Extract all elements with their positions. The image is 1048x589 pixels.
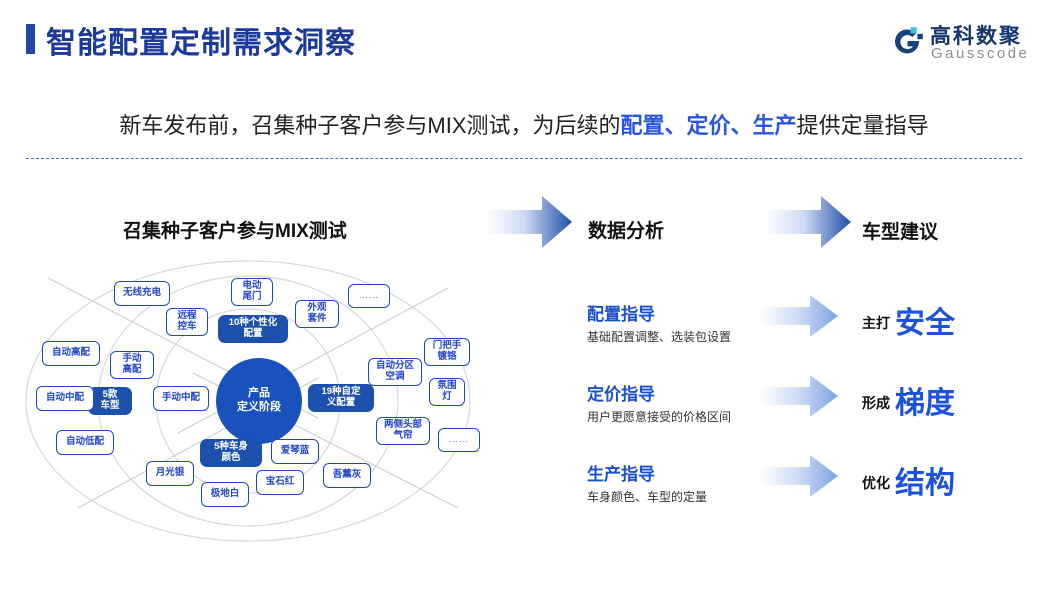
row-arrow-2 xyxy=(760,375,838,417)
mindmap-node-power-tailgate[interactable]: 电动 尾门 xyxy=(231,278,273,306)
slide: 智能配置定制需求洞察 高科数聚 Gausscode 新车发布前，召集种子客户参与… xyxy=(0,0,1048,589)
mindmap-node-color-moonlight-silver[interactable]: 月光银 xyxy=(146,461,194,486)
logo-text-en: Gausscode xyxy=(931,45,1029,62)
row-result-prefix-2: 形成 xyxy=(862,393,890,413)
mindmap-node-side-head-airbag[interactable]: 两侧头部 气帘 xyxy=(376,417,430,445)
row-arrow-3 xyxy=(760,455,838,497)
row-result-prefix-3: 优化 xyxy=(862,473,890,493)
stage-header-2: 数据分析 xyxy=(588,216,664,243)
mindmap-node-door-handle-chrome[interactable]: 门把手 镀铬 xyxy=(424,338,470,366)
mindmap-node-color-aegean-blue[interactable]: 爱琴蓝 xyxy=(271,439,319,464)
subtitle-before: 新车发布前，召集种子客户参与MIX测试，为后续的 xyxy=(119,113,620,138)
row-title-2: 定价指导 xyxy=(587,380,655,405)
mindmap-node-ellipsis-right[interactable]: …… xyxy=(438,428,480,452)
row-result-key-2: 梯度 xyxy=(895,378,955,422)
stage-arrow-1 xyxy=(487,196,572,248)
mindmap-node-auto-low-trim[interactable]: 自动低配 xyxy=(56,430,114,455)
row-result-key-1: 安全 xyxy=(895,298,955,342)
stage-header-3: 车型建议 xyxy=(862,217,938,244)
mindmap-pill-personalized-config[interactable]: 10种个性化 配置 xyxy=(218,315,288,343)
mindmap-node-ellipsis-top[interactable]: …… xyxy=(348,284,390,308)
mindmap-node-appearance-kit[interactable]: 外观 套件 xyxy=(295,300,339,328)
brand-logo: 高科数聚 Gausscode xyxy=(890,20,1030,68)
row-result-prefix-1: 主打 xyxy=(862,313,890,333)
mindmap-node-manual-high-trim[interactable]: 手动 高配 xyxy=(110,351,154,379)
row-sub-1: 基础配置调整、选装包设置 xyxy=(587,328,731,345)
subtitle-after: 提供定量指导 xyxy=(797,113,929,138)
row-sub-2: 用户更愿意接受的价格区间 xyxy=(587,408,731,425)
row-result-key-3: 结构 xyxy=(895,458,955,502)
section-divider xyxy=(26,158,1022,159)
mindmap-node-manual-mid-trim[interactable]: 手动中配 xyxy=(153,386,209,411)
mindmap-node-ambient-light[interactable]: 氛围 灯 xyxy=(429,378,465,406)
slide-header: 智能配置定制需求洞察 高科数聚 Gausscode xyxy=(0,0,1048,78)
mindmap-node-auto-mid-trim[interactable]: 自动中配 xyxy=(36,386,94,411)
stage-arrow-2 xyxy=(766,196,851,248)
row-title-1: 配置指导 xyxy=(587,300,655,325)
mindmap-node-remote-control[interactable]: 远程 控车 xyxy=(166,308,208,336)
stage-header-1: 召集种子客户参与MIX测试 xyxy=(123,216,347,243)
mindmap-node-color-ruby-red[interactable]: 宝石红 xyxy=(256,470,304,495)
mindmap: 产品 定义阶段 10种个性化 配置 19种自定 义配置 5款 车型 5种车身 颜… xyxy=(18,258,518,543)
page-title: 智能配置定制需求洞察 xyxy=(46,18,356,62)
mindmap-pill-custom-config[interactable]: 19种自定 义配置 xyxy=(308,384,374,412)
title-accent-bar xyxy=(26,24,35,54)
mindmap-node-auto-high-trim[interactable]: 自动高配 xyxy=(42,341,100,366)
subtitle-highlight: 配置、定价、生产 xyxy=(621,113,797,138)
mindmap-node-dual-zone-ac[interactable]: 自动分区 空调 xyxy=(368,358,422,386)
mindmap-center-node: 产品 定义阶段 xyxy=(216,358,302,444)
row-arrow-1 xyxy=(760,295,838,337)
slide-subtitle: 新车发布前，召集种子客户参与MIX测试，为后续的配置、定价、生产提供定量指导 xyxy=(0,108,1048,140)
mindmap-pill-models[interactable]: 5款 车型 xyxy=(88,387,132,415)
mindmap-node-wireless-charging[interactable]: 无线充电 xyxy=(114,281,170,306)
mindmap-node-color-polar-white[interactable]: 极地白 xyxy=(201,482,249,507)
mindmap-pill-body-colors[interactable]: 5种车身 颜色 xyxy=(200,439,262,467)
mindmap-node-color-lavender-grey[interactable]: 吾薰灰 xyxy=(323,463,371,488)
row-title-3: 生产指导 xyxy=(587,460,655,485)
gausscode-g-logo-icon xyxy=(890,24,924,58)
row-sub-3: 车身颜色、车型的定量 xyxy=(587,488,707,505)
